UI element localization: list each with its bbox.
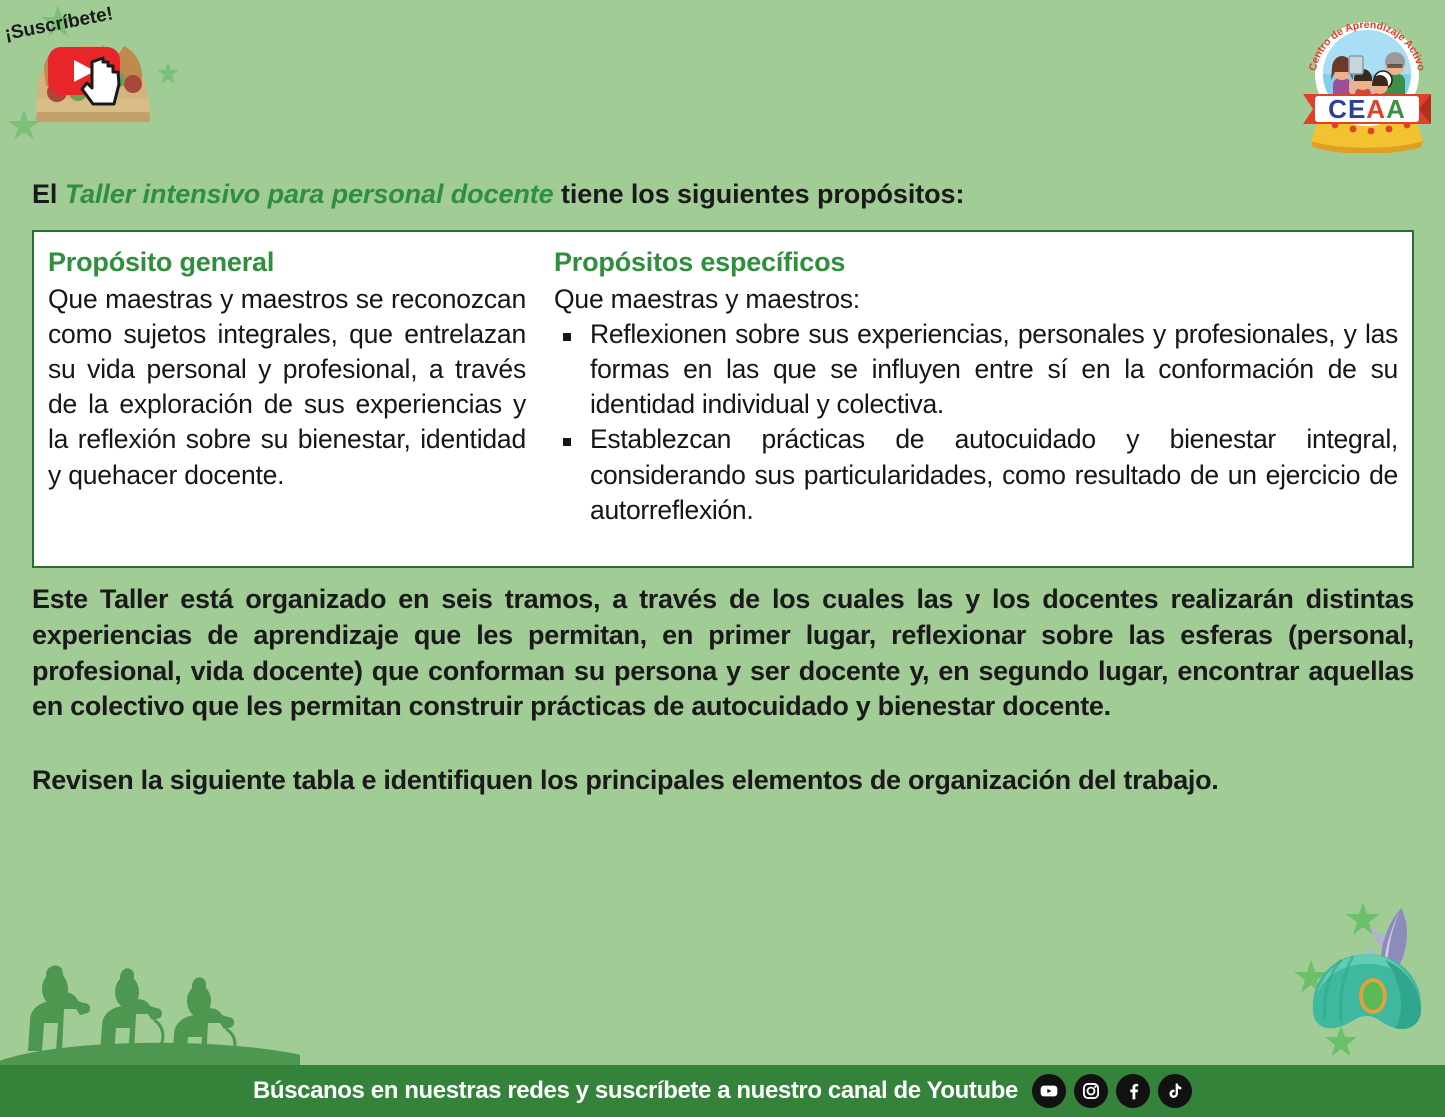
- subscribe-badge-decoration: ¡Suscríbete!: [0, 0, 200, 150]
- turban-feather-decoration: [1285, 890, 1445, 1055]
- paragraph-revisen-tabla: Revisen la siguiente tabla e identifique…: [32, 763, 1414, 799]
- feather-icon: [1363, 908, 1407, 1002]
- intro-after: tiene los siguientes propósitos:: [554, 179, 965, 209]
- purposes-box: Propósito general Que maestras y maestro…: [32, 230, 1414, 568]
- youtube-play-icon: [48, 47, 120, 95]
- purpose-specific-bullet-list: Reflexionen sobre sus experiencias, pers…: [554, 317, 1398, 528]
- footer-bar: Búscanos en nuestras redes y suscríbete …: [0, 1065, 1445, 1117]
- subscribe-label: ¡Suscríbete!: [3, 3, 115, 45]
- ceaa-logo: Centro de Aprendizaje Activo CEAA: [1297, 8, 1437, 153]
- wise-men-camels-decoration: [0, 939, 300, 1065]
- intro-line: El Taller intensivo para personal docent…: [32, 178, 1414, 212]
- purpose-specific-column: Propósitos específicos Que maestras y ma…: [548, 246, 1398, 550]
- turban-icon: [1313, 954, 1421, 1029]
- purpose-specific-lead: Que maestras y maestros:: [554, 282, 1398, 317]
- social-links: [1032, 1074, 1192, 1108]
- logo-name-text: CEAA: [1328, 94, 1406, 124]
- intro-before: El: [32, 179, 65, 209]
- purpose-general-title: Propósito general: [48, 246, 526, 280]
- footer-text: Búscanos en nuestras redes y suscríbete …: [253, 1077, 1018, 1105]
- purpose-general-body: Que maestras y maestros se reconozcan co…: [48, 282, 526, 493]
- youtube-icon[interactable]: [1032, 1074, 1066, 1108]
- purpose-general-column: Propósito general Que maestras y maestro…: [48, 246, 548, 550]
- purpose-specific-title: Propósitos específicos: [554, 246, 1398, 280]
- cursor-hand-icon: [82, 58, 119, 104]
- star-cluster-icon: [8, 5, 179, 140]
- slide-content: El Taller intensivo para personal docent…: [32, 178, 1414, 799]
- star-cluster-icon: [1294, 902, 1380, 1055]
- list-item: Reflexionen sobre sus experiencias, pers…: [554, 317, 1398, 423]
- instagram-icon[interactable]: [1074, 1074, 1108, 1108]
- list-item: Establezcan prácticas de autocuidado y b…: [554, 422, 1398, 528]
- paragraph-organizacion: Este Taller está organizado en seis tram…: [32, 582, 1414, 726]
- intro-emphasis: Taller intensivo para personal docente: [65, 179, 554, 209]
- rosca-crown-icon: [36, 45, 150, 122]
- facebook-icon[interactable]: [1116, 1074, 1150, 1108]
- logo-banner: CEAA: [1303, 94, 1431, 124]
- tiktok-icon[interactable]: [1158, 1074, 1192, 1108]
